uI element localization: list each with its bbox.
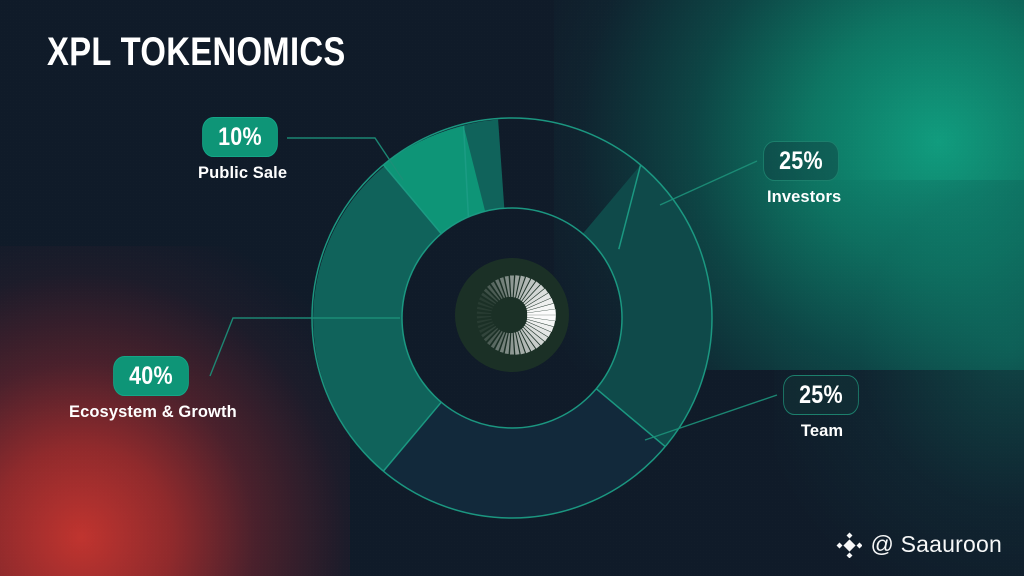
callout-public-sale[interactable]: 10% Public Sale bbox=[196, 117, 287, 183]
logo-disc bbox=[455, 258, 569, 372]
leader-investors bbox=[660, 161, 757, 205]
badge-ecosystem-percent: 40% bbox=[113, 356, 189, 396]
badge-public-sale-percent: 10% bbox=[202, 117, 278, 157]
callout-investors[interactable]: 25% Investors bbox=[757, 141, 845, 207]
infographic-canvas: XPL TOKENOMICS bbox=[0, 0, 1024, 576]
label-team: Team bbox=[779, 422, 865, 441]
center-logo bbox=[455, 258, 569, 372]
label-investors: Investors bbox=[767, 188, 845, 207]
badge-investors-percent: 25% bbox=[763, 141, 839, 181]
label-public-sale: Public Sale bbox=[198, 164, 287, 183]
watermark-handle: @ Saauroon bbox=[871, 531, 1003, 558]
callout-team[interactable]: 25% Team bbox=[775, 375, 865, 441]
label-ecosystem-growth: Ecosystem & Growth bbox=[69, 403, 237, 422]
badge-team-percent: 25% bbox=[783, 375, 859, 415]
watermark: @ Saauroon bbox=[836, 531, 1003, 558]
tokenomics-donut-chart bbox=[0, 0, 1024, 576]
callout-ecosystem-growth[interactable]: 40% Ecosystem & Growth bbox=[69, 356, 237, 422]
diamond-cluster-icon bbox=[836, 532, 862, 558]
